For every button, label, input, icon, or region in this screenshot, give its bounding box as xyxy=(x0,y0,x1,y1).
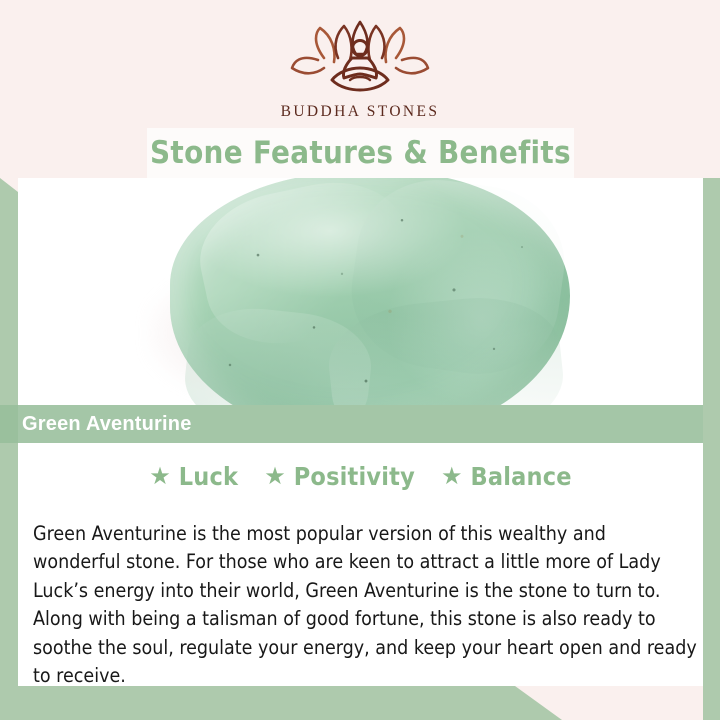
stone-description: Green Aventurine is the most popular ver… xyxy=(33,520,697,691)
stone-name-label: Green Aventurine xyxy=(22,413,192,436)
page-title: Stone Features & Benefits xyxy=(150,135,571,171)
benefit-item-balance: ★ Balance xyxy=(441,462,572,491)
benefit-label: Luck xyxy=(179,462,238,491)
benefit-item-luck: ★ Luck xyxy=(149,462,238,491)
star-icon: ★ xyxy=(264,465,286,489)
brand-name: BUDDHA STONES xyxy=(245,103,475,121)
benefit-item-positivity: ★ Positivity xyxy=(264,462,415,491)
star-icon: ★ xyxy=(441,465,463,489)
stone-speckles xyxy=(170,178,570,405)
benefit-label: Balance xyxy=(471,462,572,491)
stone-info-card: BUDDHA STONES Stone Features & Benefits … xyxy=(0,0,720,720)
lotus-meditation-icon xyxy=(245,18,475,101)
stone-name-bar: Green Aventurine xyxy=(0,405,703,443)
section-title-band: Stone Features & Benefits xyxy=(147,128,574,178)
product-image xyxy=(18,178,703,405)
brand-logo: BUDDHA STONES xyxy=(245,18,475,121)
benefit-label: Positivity xyxy=(294,462,415,491)
decorative-bottom-green-bar xyxy=(0,686,562,720)
benefits-row: ★ Luck ★ Positivity ★ Balance xyxy=(18,462,703,491)
card-header: BUDDHA STONES Stone Features & Benefits xyxy=(0,0,720,178)
star-icon: ★ xyxy=(149,465,171,489)
green-aventurine-stone xyxy=(170,178,570,405)
